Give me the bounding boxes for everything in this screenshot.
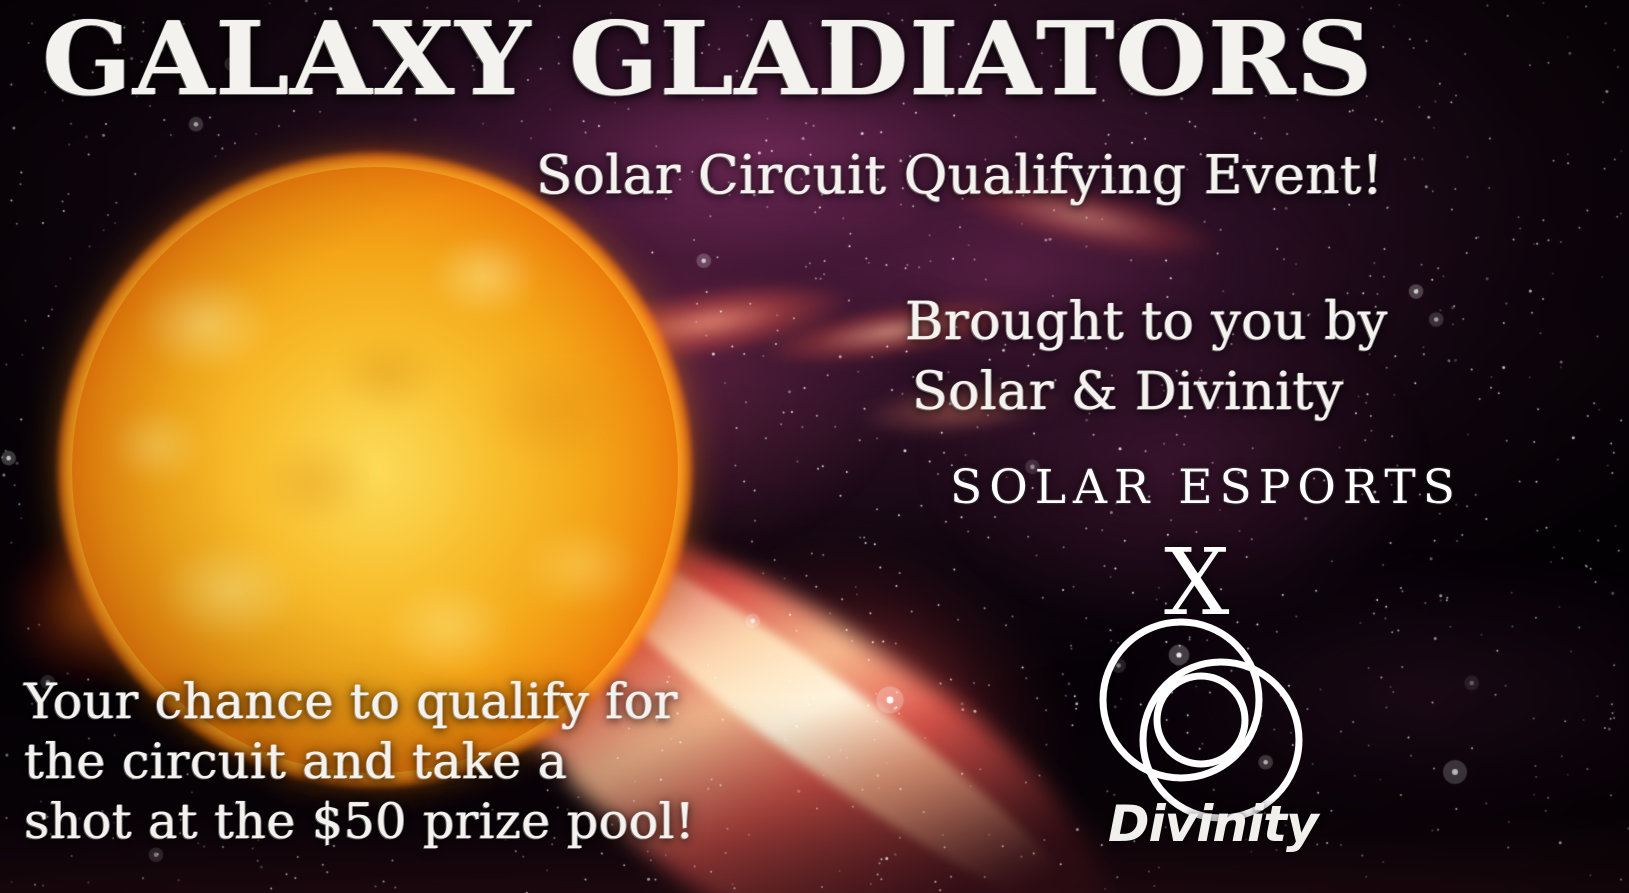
solar-esports-wordmark: SOLAR ESPORTS	[950, 460, 1462, 515]
tagline-line-1: Your chance to qualify for	[24, 672, 695, 732]
tagline-line-2: the circuit and take a	[24, 732, 695, 792]
x-separator: X	[1164, 537, 1230, 629]
tagline-line-3: shot at the $50 prize pool!	[24, 792, 695, 852]
sponsor-names-line: Solar & Divinity	[912, 362, 1344, 422]
page-title: GALAXY GLADIATORS	[42, 8, 1373, 109]
brought-to-you-by-line: Brought to you by	[905, 292, 1388, 352]
event-subtitle: Solar Circuit Qualifying Event!	[536, 145, 1383, 206]
poster-canvas: GALAXY GLADIATORS Solar Circuit Qualifyi…	[0, 0, 1629, 893]
divinity-wordmark: Divinity	[1108, 795, 1308, 853]
prize-tagline: Your chance to qualify for the circuit a…	[24, 672, 695, 852]
